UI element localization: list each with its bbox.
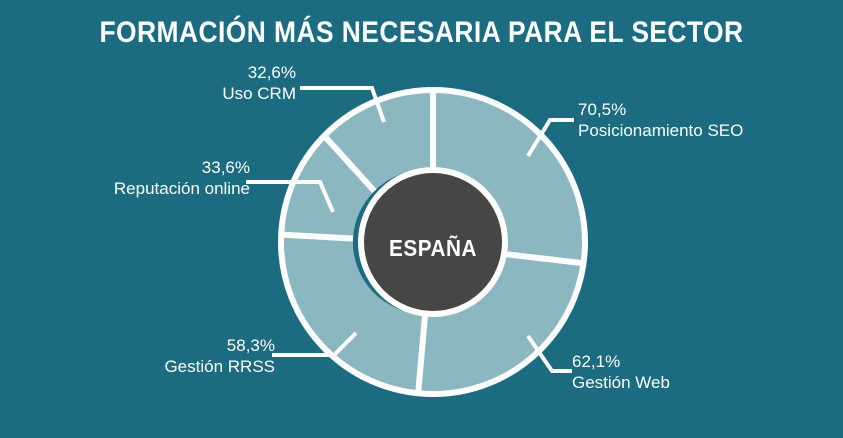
callout-gestion-rrss-value: 58,3% (60, 336, 275, 357)
hub-label: ESPAÑA (389, 235, 477, 261)
callout-uso-crm-value: 32,6% (116, 63, 296, 84)
callout-gestion-rrss: 58,3% Gestión RRSS (60, 336, 275, 377)
callout-reputacion-online: 33,6% Reputación online (30, 158, 250, 199)
callout-gestion-web-value: 62,1% (572, 352, 802, 373)
callout-gestion-web: 62,1% Gestión Web (572, 352, 802, 393)
callout-posicionamiento-seo-label: Posicionamiento SEO (578, 121, 828, 142)
callout-posicionamiento-seo: 70,5% Posicionamiento SEO (578, 100, 828, 141)
callout-uso-crm: 32,6% Uso CRM (116, 63, 296, 104)
callout-reputacion-online-label: Reputación online (30, 179, 250, 200)
callout-gestion-rrss-label: Gestión RRSS (60, 357, 275, 378)
callout-posicionamiento-seo-value: 70,5% (578, 100, 828, 121)
callout-gestion-web-label: Gestión Web (572, 373, 802, 394)
callout-uso-crm-label: Uso CRM (116, 84, 296, 105)
callout-reputacion-online-value: 33,6% (30, 158, 250, 179)
infographic-root: FORMACIÓN MÁS NECESARIA PARA EL SECTOR (0, 0, 843, 438)
